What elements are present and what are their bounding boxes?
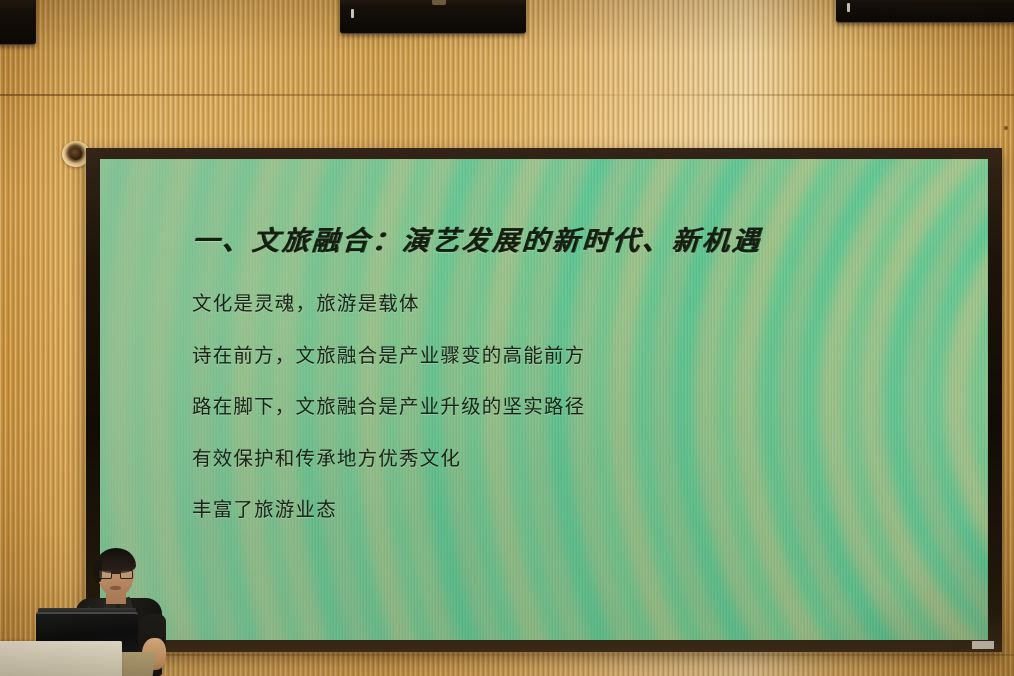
glasses-icon — [99, 570, 133, 579]
glasses-bridge — [112, 573, 120, 574]
slide-bullet-list: 文化是灵魂，旅游是载体 诗在前方，文旅融合是产业骤变的高能前方 路在脚下，文旅融… — [192, 294, 988, 520]
slide-title: 一、文旅融合：演艺发展的新时代、新机遇 — [191, 219, 988, 258]
wall-fixing-dot — [1004, 126, 1008, 130]
display-bezel: 一、文旅融合：演艺发展的新时代、新机遇 文化是灵魂，旅游是载体 诗在前方，文旅融… — [86, 148, 1002, 652]
glasses-lens-left — [99, 570, 112, 579]
presenter-mouth — [110, 586, 121, 590]
slide-body: 一、文旅融合：演艺发展的新时代、新机遇 文化是灵魂，旅游是载体 诗在前方，文旅融… — [100, 159, 988, 640]
podium — [0, 641, 122, 676]
light-fixture-center-icon — [340, 0, 526, 34]
wall-seam-upper — [0, 94, 1014, 96]
slide-line: 丰富了旅游业态 — [192, 500, 988, 520]
light-fixture-left-icon — [0, 0, 36, 45]
lecture-hall-photo: 一、文旅融合：演艺发展的新时代、新机遇 文化是灵魂，旅游是载体 诗在前方，文旅融… — [0, 0, 1014, 676]
presentation-screen[interactable]: 一、文旅融合：演艺发展的新时代、新机遇 文化是灵魂，旅游是载体 诗在前方，文旅融… — [100, 159, 988, 640]
slide-line: 有效保护和传承地方优秀文化 — [192, 449, 988, 469]
slide-line: 路在脚下，文旅融合是产业升级的坚实路径 — [192, 397, 988, 417]
fixture-led-indicator-icon — [351, 9, 354, 18]
light-fixture-right-icon — [836, 0, 1014, 23]
glasses-lens-right — [120, 570, 133, 579]
slide-line: 诗在前方，文旅融合是产业骤变的高能前方 — [192, 346, 988, 366]
display-brand-label — [972, 641, 994, 649]
fixture-mount-stem — [432, 0, 446, 5]
slide-line: 文化是灵魂，旅游是载体 — [192, 294, 988, 314]
fixture-led-indicator-icon — [847, 3, 850, 12]
